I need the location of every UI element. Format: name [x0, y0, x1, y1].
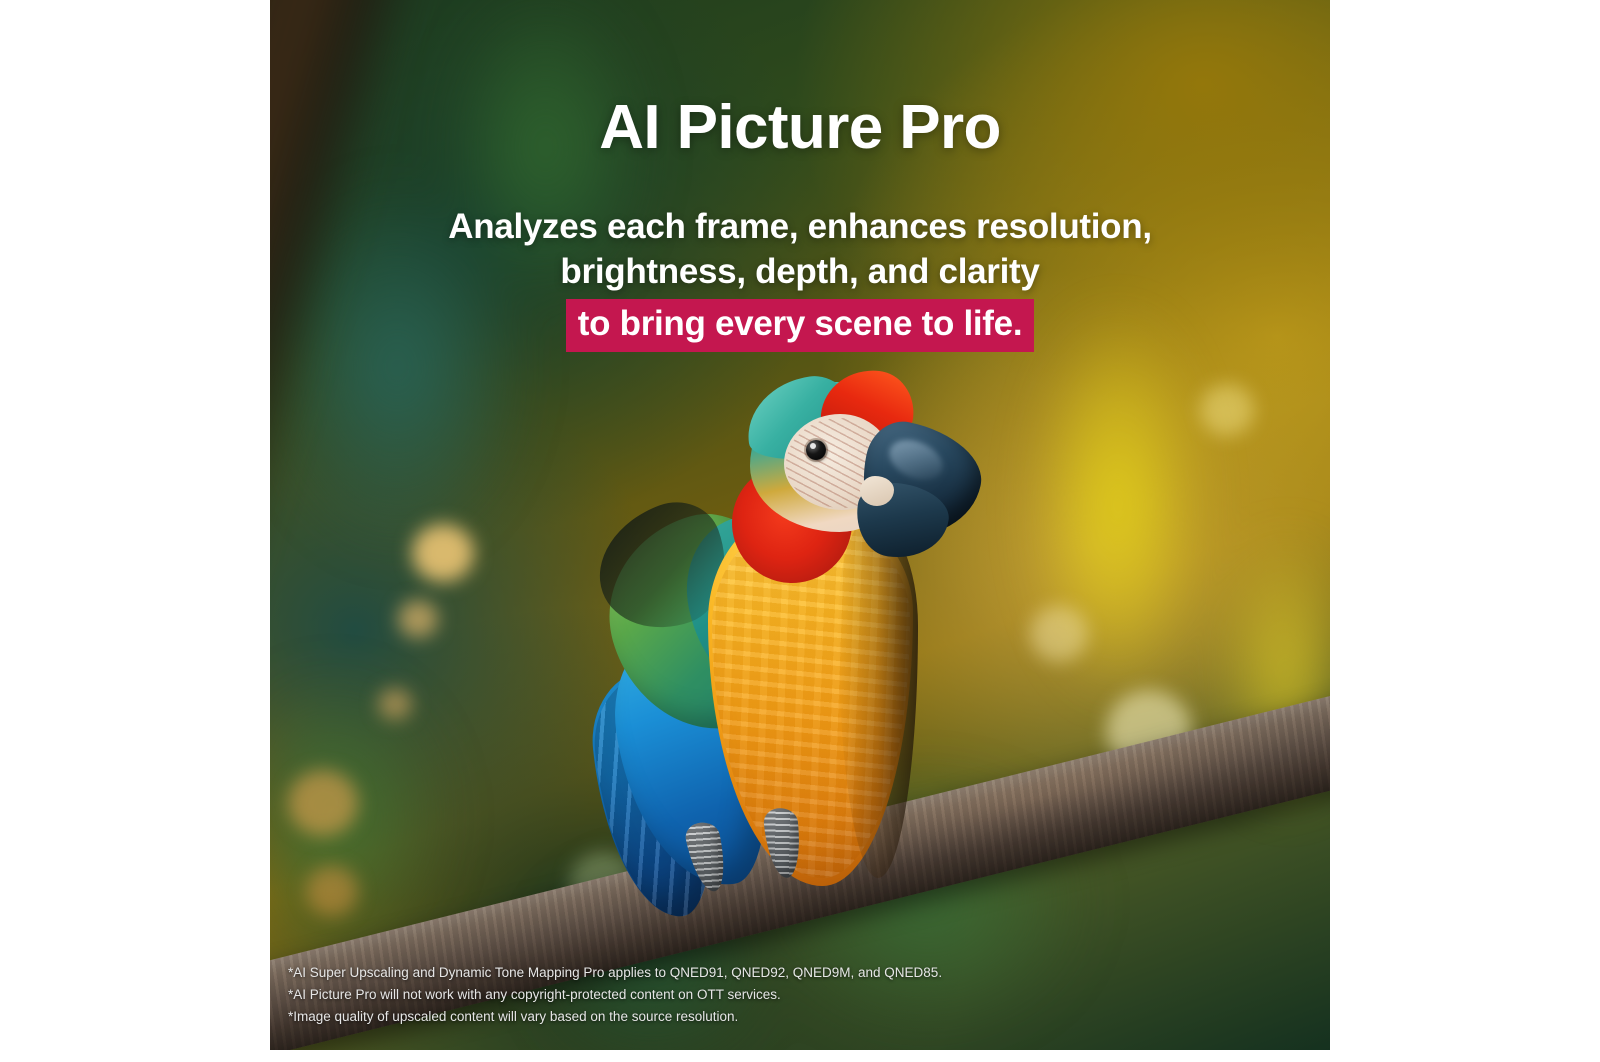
- parrot-eye: [806, 440, 826, 460]
- macaw-parrot: [570, 368, 970, 898]
- subheadline-line-2: brightness, depth, and clarity: [270, 250, 1330, 295]
- subheadline-line-1: Analyzes each frame, enhances resolution…: [270, 205, 1330, 250]
- footnote-line: *AI Super Upscaling and Dynamic Tone Map…: [288, 962, 942, 984]
- footnote-line: *AI Picture Pro will not work with any c…: [288, 984, 942, 1006]
- page-root: AI Picture Pro Analyzes each frame, enha…: [0, 0, 1600, 1062]
- parrot-eye-glint: [810, 443, 816, 449]
- page-title: AI Picture Pro: [270, 95, 1330, 160]
- footnote-line: *Image quality of upscaled content will …: [288, 1006, 942, 1028]
- highlight-badge: to bring every scene to life.: [566, 299, 1035, 353]
- footnote-block: *AI Super Upscaling and Dynamic Tone Map…: [288, 962, 942, 1028]
- subheadline: Analyzes each frame, enhances resolution…: [270, 205, 1330, 352]
- promo-banner: AI Picture Pro Analyzes each frame, enha…: [270, 0, 1330, 1050]
- subheadline-line-3: to bring every scene to life.: [270, 295, 1330, 353]
